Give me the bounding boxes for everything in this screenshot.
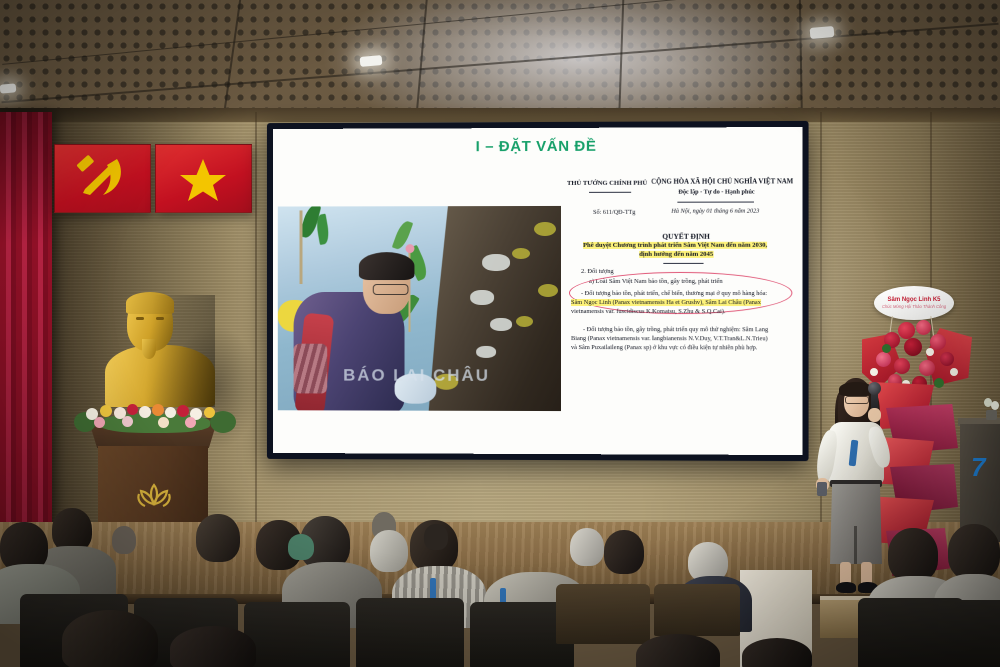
vietnam-national-flag xyxy=(155,144,252,213)
flower-card-title: Sâm Ngọc Linh K5 xyxy=(887,297,940,303)
audience-head xyxy=(742,638,812,667)
ceiling-light-3 xyxy=(0,83,16,93)
doc-subject-line2: định hướng đến năm 2045 xyxy=(639,251,713,258)
yellow-star-icon xyxy=(156,145,251,212)
projection-screen[interactable]: I – ĐẶT VẤN ĐỀ xyxy=(273,127,803,455)
communist-party-flag xyxy=(54,144,151,213)
doc-place-date: Hà Nội, ngày 01 tháng 6 năm 2023 xyxy=(671,208,759,215)
audience-chair xyxy=(244,602,350,667)
conference-hall-scene: I – ĐẶT VẤN ĐỀ xyxy=(0,0,1000,667)
flower-card: Sâm Ngọc Linh K5 Chúc Mừng Hội Thảo Thàn… xyxy=(874,286,954,320)
doc-republic-line2: Độc lập - Tự do - Hạnh phúc xyxy=(678,188,754,195)
audience-head xyxy=(170,626,256,667)
doc-bullet2-line3: và Sâm Puxailaileng (Panax sp) ở khu vực… xyxy=(571,344,757,351)
doc-bullet2-line2: Biang (Panax vietnamensis var. langbiane… xyxy=(571,335,768,342)
audience-head xyxy=(888,528,938,582)
audience-head xyxy=(196,514,240,562)
audience-head xyxy=(112,526,136,554)
small-vase xyxy=(982,398,1000,420)
slide-photo: BÁO LAI CHÂU xyxy=(278,206,561,411)
audience-chair xyxy=(556,584,650,644)
doc-section-2: 2. Đối tượng xyxy=(581,268,614,275)
presentation-clicker xyxy=(817,482,827,496)
audience-head xyxy=(604,530,644,574)
doc-bullet1-line1: - Đối tượng bảo tồn, phát triển, chế biế… xyxy=(581,290,767,297)
glasses-icon xyxy=(845,396,869,404)
audience-head xyxy=(62,610,158,667)
audience-head xyxy=(424,524,448,550)
doc-bullet1-line3: vietnamensis var. fuscidiscus K.Komatsu,… xyxy=(571,308,725,315)
hammer-sickle-icon xyxy=(55,145,150,212)
doc-type: QUYẾT ĐỊNH xyxy=(662,232,710,241)
audience-chair xyxy=(938,600,1000,667)
doc-bullet2-line1: - Đối tượng bảo tồn, gây trồng, phát tri… xyxy=(583,326,768,333)
photo-watermark: BÁO LAI CHÂU xyxy=(317,366,516,386)
slide-title: I – ĐẶT VẤN ĐỀ xyxy=(273,137,803,156)
audience-chair xyxy=(356,598,464,667)
ho-chi-minh-bust xyxy=(105,295,215,405)
doc-number: Số: 611/QĐ-TTg xyxy=(593,209,635,216)
doc-subject-line1: Phê duyệt Chương trình phát triển Sâm Vi… xyxy=(583,242,767,249)
audience-head xyxy=(502,520,558,578)
audience-head xyxy=(636,634,720,667)
flower-card-subtitle: Chúc Mừng Hội Thảo Thành Công xyxy=(882,304,946,309)
ceiling-light-1 xyxy=(360,55,383,67)
audience-head xyxy=(370,530,408,572)
slide-document: THỦ TƯỚNG CHÍNH PHỦ CỘNG HÒA XÃ HỘI CHỦ … xyxy=(567,179,796,380)
audience xyxy=(0,498,1000,667)
audience-chair xyxy=(654,584,740,636)
curtain-shading xyxy=(0,112,52,552)
podium-flower-arrangement xyxy=(70,398,238,436)
audience-head xyxy=(948,524,1000,580)
lectern-logo: 7 xyxy=(971,452,1000,482)
audience-head xyxy=(570,528,604,566)
doc-issuer: THỦ TƯỚNG CHÍNH PHỦ xyxy=(567,180,647,187)
doc-republic-line1: CỘNG HÒA XÃ HỘI CHỦ NGHĨA VIỆT NAM xyxy=(651,178,793,185)
audience-head xyxy=(288,534,314,560)
doc-bullet1-line2: Sâm Ngọc Linh (Panax vietnamensis Ha et … xyxy=(571,299,761,306)
ceiling-light-2 xyxy=(810,26,835,39)
